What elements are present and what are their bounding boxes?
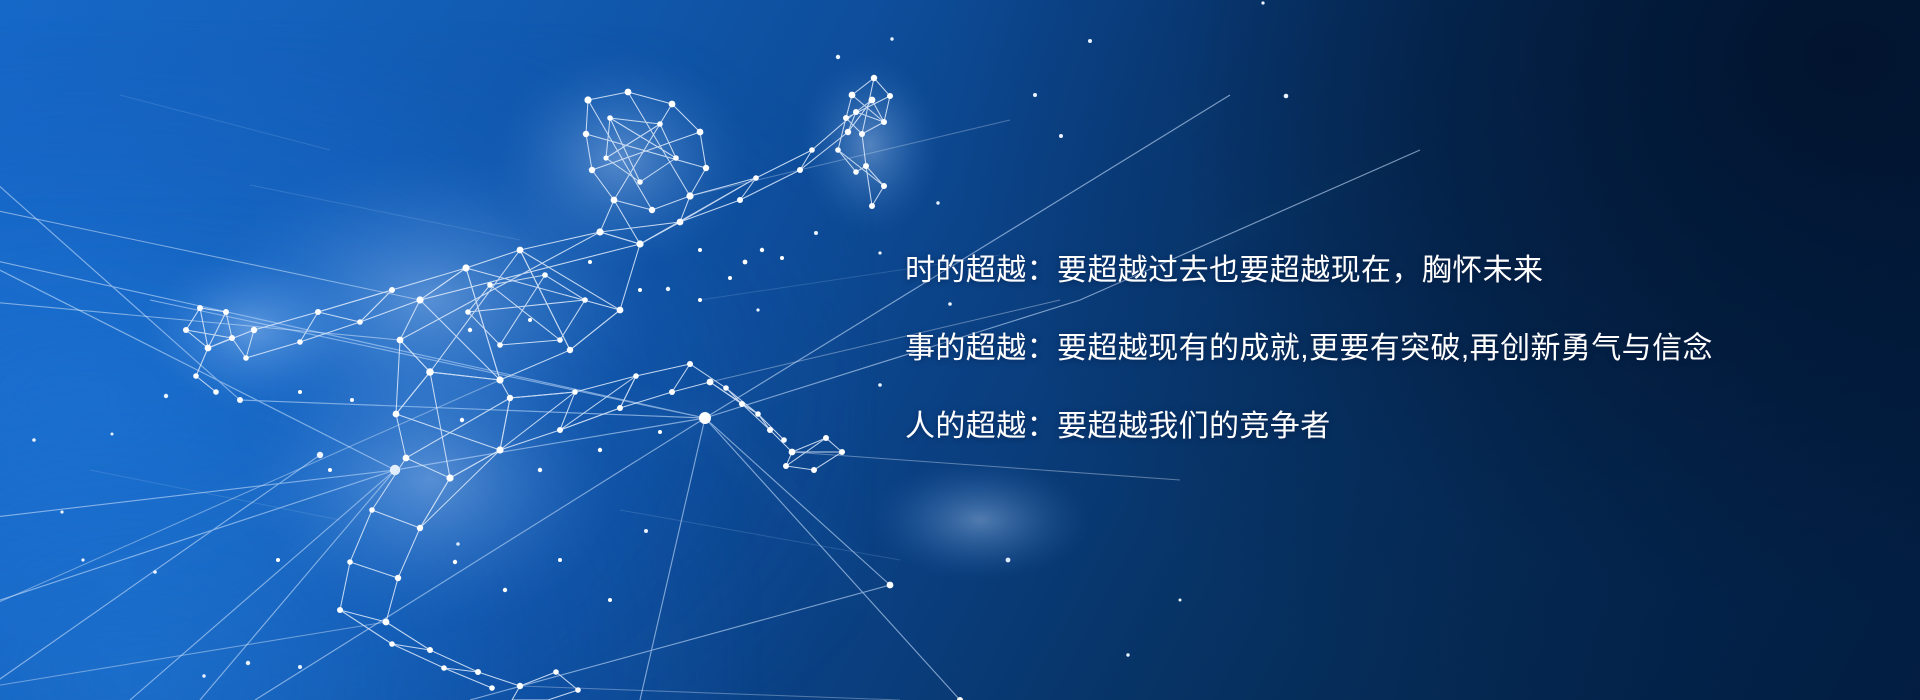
slogan-line-1: 时的超越：要超越过去也要超越现在，胸怀未来 [905, 232, 1665, 310]
slogan-line-2: 事的超越：要超越现有的成就,更要有突破,再创新勇气与信念 [905, 310, 1665, 388]
slogan-block: 时的超越：要超越过去也要超越现在，胸怀未来 事的超越：要超越现有的成就,更要有突… [905, 232, 1665, 466]
slogan-line-3: 人的超越：要超越我们的竞争者 [905, 388, 1665, 466]
hero-banner: 时的超越：要超越过去也要超越现在，胸怀未来 事的超越：要超越现有的成就,更要有突… [0, 0, 1920, 700]
